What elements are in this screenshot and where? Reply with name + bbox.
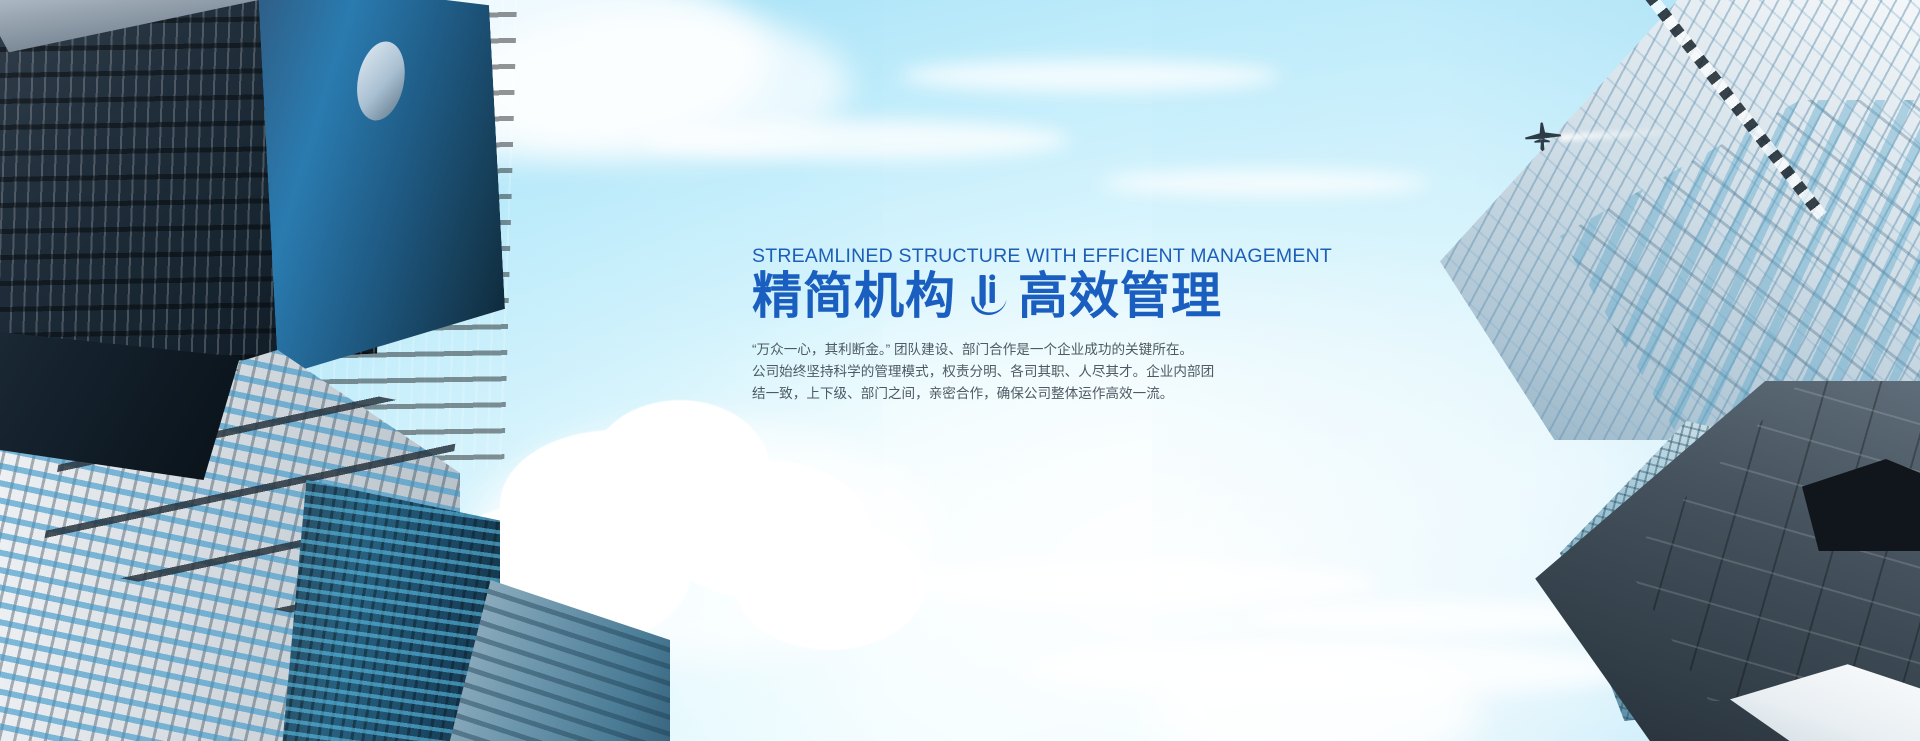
description-line: “万众一心，其利断金。” 团队建设、部门合作是一个企业成功的关键所在。 bbox=[752, 339, 1312, 361]
airplane-silhouette-icon bbox=[1520, 120, 1564, 154]
building-left-white-tower-cluster bbox=[0, 330, 600, 741]
building-bottom-right-dark-tower bbox=[1400, 361, 1920, 741]
headline-right-text: 高效管理 bbox=[1018, 269, 1222, 323]
hero-headline-row: 精简机构 高效管理 bbox=[752, 269, 1312, 323]
hero-description: “万众一心，其利断金。” 团队建设、部门合作是一个企业成功的关键所在。 公司始终… bbox=[752, 339, 1312, 405]
hero-banner: STREAMLINED STRUCTURE WITH EFFICIENT MAN… bbox=[0, 0, 1920, 741]
description-line: 结一致，上下级、部门之间，亲密合作，确保公司整体运作高效一流。 bbox=[752, 383, 1312, 405]
hero-text-block: STREAMLINED STRUCTURE WITH EFFICIENT MAN… bbox=[752, 244, 1312, 405]
anchor-swoosh-logo-icon bbox=[967, 273, 1009, 319]
hero-eyebrow-text: STREAMLINED STRUCTURE WITH EFFICIENT MAN… bbox=[752, 244, 1312, 268]
description-line: 公司始终坚持科学的管理模式，权责分明、各司其职、人尽其才。企业内部团 bbox=[752, 361, 1312, 383]
headline-left-text: 精简机构 bbox=[752, 269, 956, 323]
